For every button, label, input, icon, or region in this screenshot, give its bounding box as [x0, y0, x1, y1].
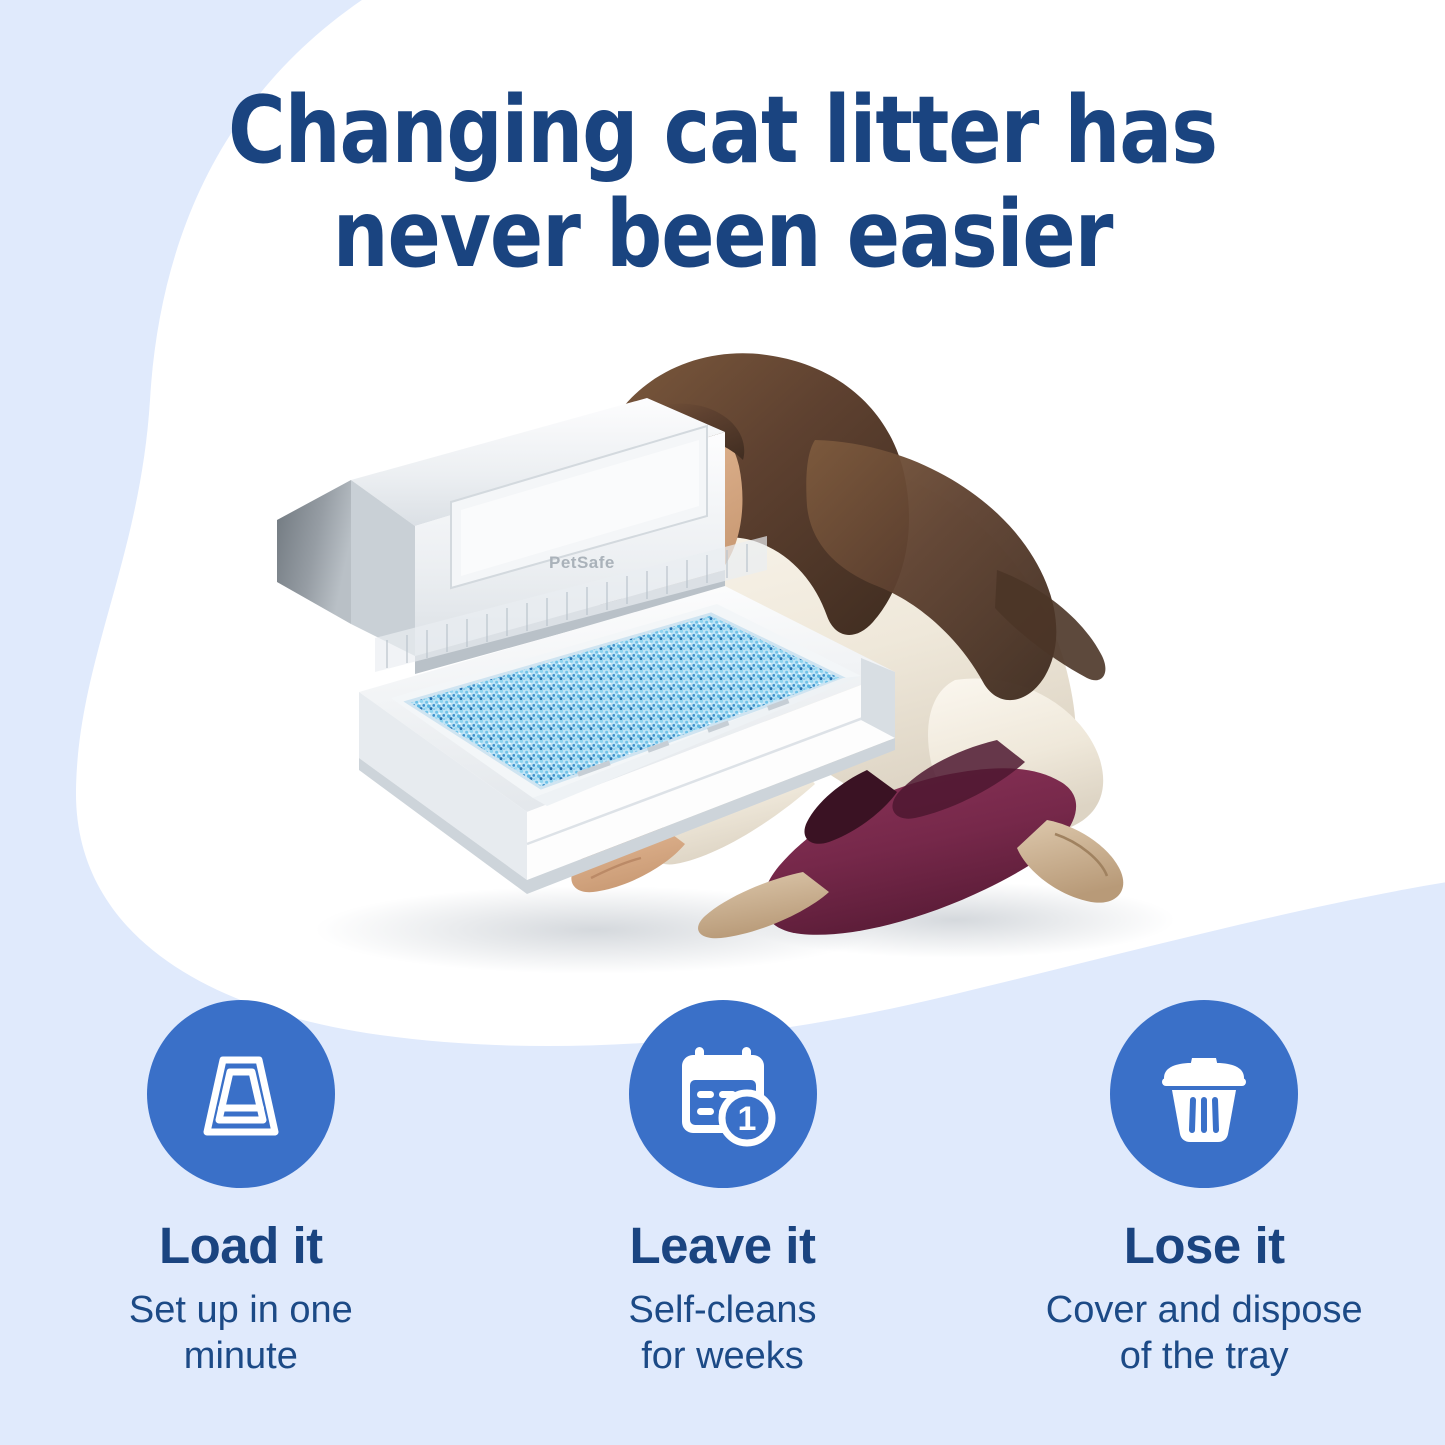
feature-lose-it: Lose it Cover and dispose of the tray [963, 1000, 1445, 1430]
feature-description: Set up in one minute [129, 1287, 353, 1380]
infographic-canvas: Changing cat litter has never been easie… [0, 0, 1445, 1445]
feature-description: Self-cleans for weeks [629, 1287, 817, 1380]
feature-icon-badge-3 [1110, 1000, 1298, 1188]
feature-title: Leave it [630, 1220, 816, 1271]
feature-description: Cover and dispose of the tray [1046, 1287, 1363, 1380]
feature-title: Load it [159, 1220, 323, 1271]
trash-can-icon [1148, 1038, 1260, 1150]
headline: Changing cat litter has never been easie… [43, 78, 1401, 286]
calendar-one-icon: 1 [664, 1035, 782, 1153]
feature-icon-badge-2: 1 [629, 1000, 817, 1188]
feature-icon-badge-1 [147, 1000, 335, 1188]
litter-tray-icon [185, 1038, 297, 1150]
calendar-badge-number: 1 [737, 1100, 756, 1138]
product-brand-label: PetSafe [549, 553, 615, 572]
feature-row: Load it Set up in one minute [0, 1000, 1445, 1430]
hero-product-photo: PetSafe [255, 320, 1195, 980]
feature-load-it: Load it Set up in one minute [0, 1000, 482, 1430]
feature-title: Lose it [1124, 1220, 1285, 1271]
feature-leave-it: 1 Leave it Self-cleans for weeks [482, 1000, 964, 1430]
